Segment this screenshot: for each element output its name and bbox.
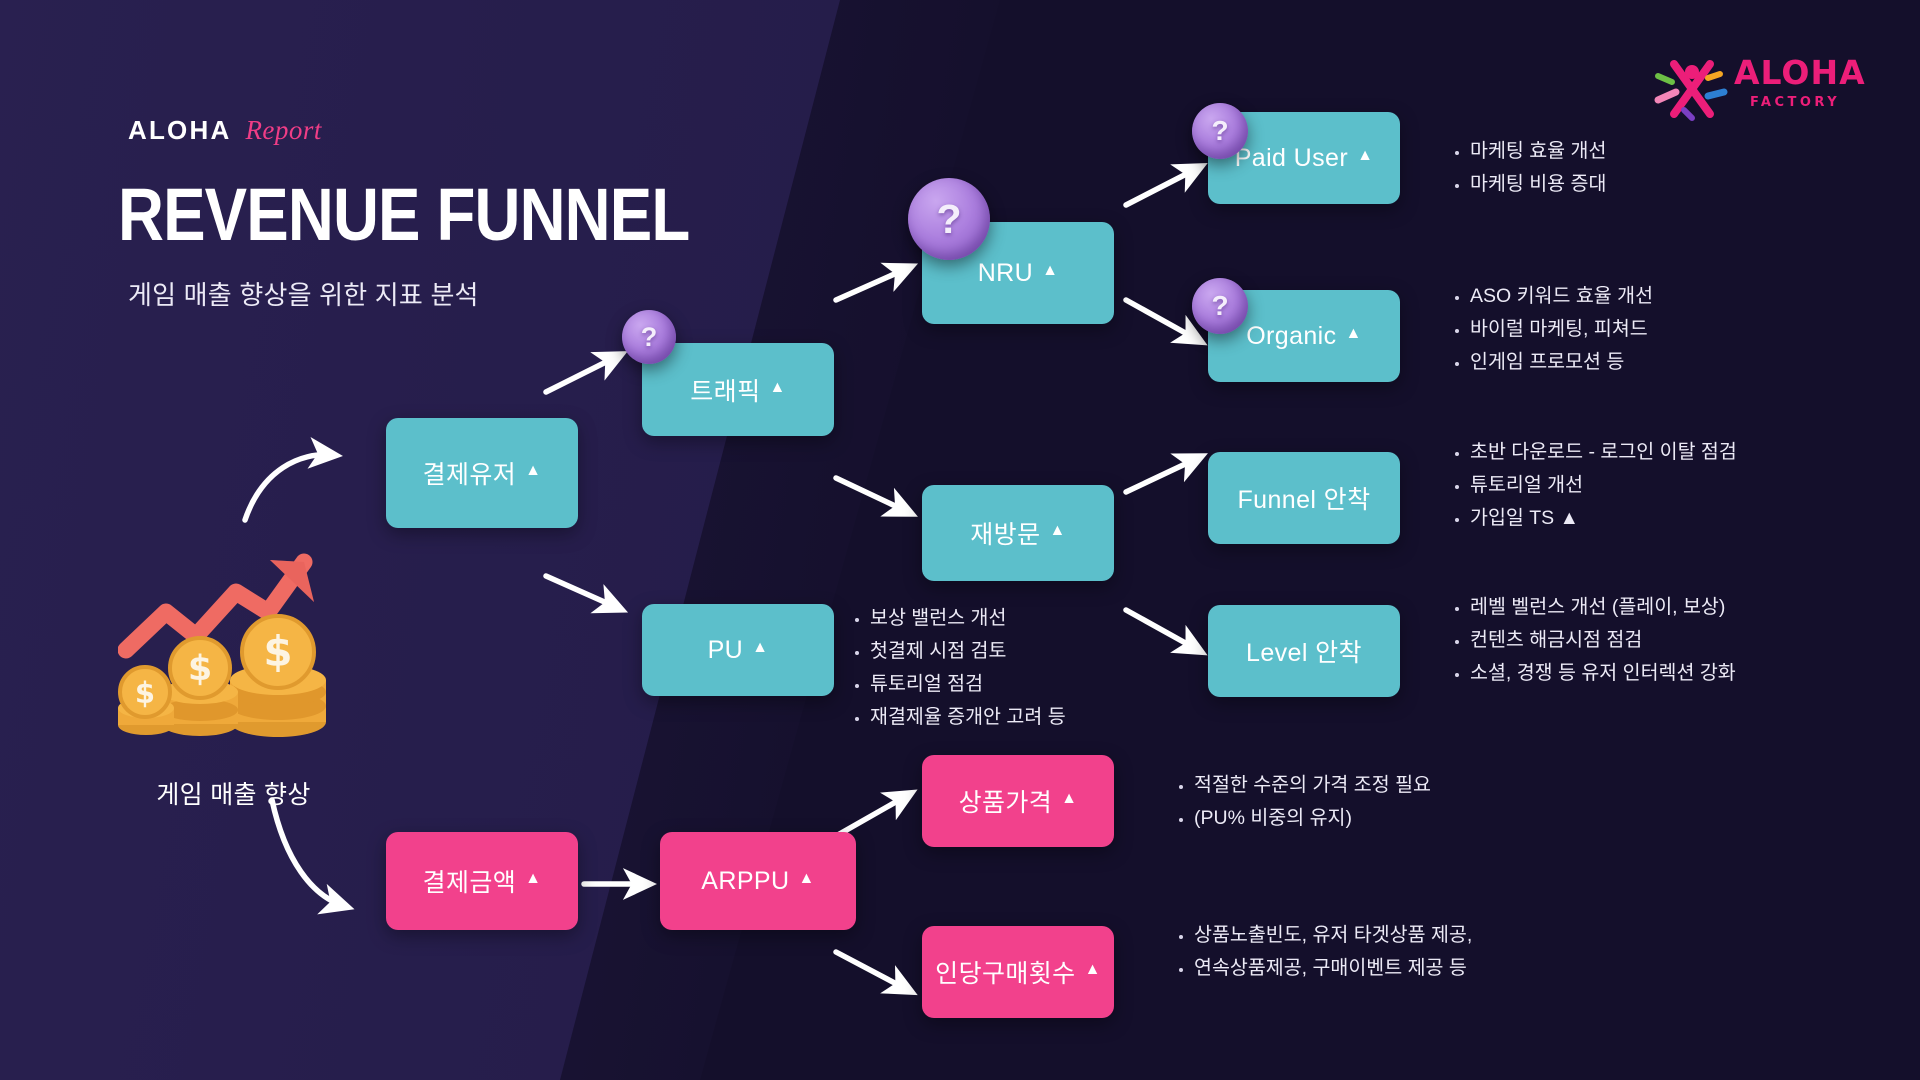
trend-up-icon: ▲ — [752, 639, 768, 657]
notes-paid-user: 마케팅 효율 개선 마케팅 비용 증대 — [1448, 136, 1868, 202]
trend-up-icon: ▲ — [525, 462, 541, 480]
list-item: 튜토리얼 개선 — [1470, 470, 1918, 500]
question-badge-paid-user[interactable]: ? — [1192, 103, 1248, 159]
notes-funnel-settle: 초반 다운로드 - 로그인 이탈 점검 튜토리얼 개선 가입일 TS ▲ — [1448, 437, 1918, 536]
trend-up-icon: ▲ — [1357, 147, 1373, 165]
trend-up-icon: ▲ — [769, 379, 785, 397]
list-item: ASO 키워드 효율 개선 — [1470, 281, 1878, 311]
node-payment-amount[interactable]: 결제금액 ▲ — [386, 832, 578, 930]
coin-stack-large: $ — [230, 616, 326, 737]
node-label: NRU — [978, 259, 1033, 288]
logo-subname: FACTORY — [1750, 96, 1866, 109]
node-traffic[interactable]: 트래픽 ▲ — [642, 343, 834, 436]
trend-up-icon: ▲ — [1042, 262, 1058, 280]
node-purchase-count[interactable]: 인당구매횟수 ▲ — [922, 926, 1114, 1018]
trend-up-icon: ▲ — [1346, 325, 1362, 343]
node-label: 재방문 — [970, 515, 1040, 551]
list-item: 마케팅 효율 개선 — [1470, 136, 1868, 166]
node-label: Level 안착 — [1246, 633, 1362, 669]
node-label: Funnel 안착 — [1238, 480, 1371, 516]
logo-name: ALOHA — [1734, 56, 1866, 89]
list-item: 상품노출빈도, 유저 타겟상품 제공, — [1194, 920, 1552, 950]
slide-canvas: ALOHA Report REVENUE FUNNEL 게임 매출 향상을 위한… — [0, 0, 1920, 1080]
list-item: 소셜, 경쟁 등 유저 인터렉션 강화 — [1470, 658, 1918, 688]
illustration-caption: 게임 매출 향상 — [126, 775, 341, 811]
coin-stack-small: $ — [118, 667, 174, 735]
node-label: 인당구매횟수 — [935, 954, 1075, 990]
list-item: 보상 밸런스 개선 — [870, 603, 1128, 633]
list-item: 레벨 벨런스 개선 (플레이, 보상) — [1470, 592, 1918, 622]
node-label: 상품가격 — [959, 783, 1053, 819]
revenue-growth-illustration: $ $ $ — [118, 540, 348, 740]
question-badge-organic[interactable]: ? — [1192, 278, 1248, 334]
aloha-factory-logo: ALOHA FACTORY — [1652, 48, 1862, 128]
trend-up-icon: ▲ — [1061, 790, 1077, 808]
question-mark-icon: ? — [1211, 290, 1228, 322]
growth-coins-icon: $ $ $ — [118, 540, 348, 740]
trend-up-icon: ▲ — [1085, 961, 1101, 979]
node-item-price[interactable]: 상품가격 ▲ — [922, 755, 1114, 847]
page-title: REVENUE FUNNEL — [118, 172, 689, 257]
node-label: 결제유저 — [423, 455, 517, 491]
svg-text:$: $ — [263, 627, 292, 676]
question-mark-icon: ? — [936, 196, 961, 243]
list-item: 바이럴 마케팅, 피쳐드 — [1470, 314, 1878, 344]
logo-wordmark: ALOHA FACTORY — [1734, 56, 1866, 109]
list-item: 첫결제 시점 검토 — [870, 636, 1128, 666]
page-subtitle: 게임 매출 향상을 위한 지표 분석 — [128, 275, 479, 312]
node-pu[interactable]: PU ▲ — [642, 604, 834, 696]
svg-text:$: $ — [135, 676, 155, 710]
list-item: (PU% 비중의 유지) — [1194, 803, 1532, 833]
list-item: 인게임 프로모션 등 — [1470, 347, 1878, 377]
list-item: 튜토리얼 점검 — [870, 669, 1128, 699]
notes-purchase-count: 상품노출빈도, 유저 타겟상품 제공, 연속상품제공, 구매이벤트 제공 등 — [1172, 920, 1552, 986]
notes-item-price: 적절한 수준의 가격 조정 필요 (PU% 비중의 유지) — [1172, 770, 1532, 836]
svg-text:$: $ — [188, 649, 212, 689]
list-item: 가입일 TS ▲ — [1470, 503, 1918, 533]
list-item: 마케팅 비용 증대 — [1470, 169, 1868, 199]
node-level-settle[interactable]: Level 안착 — [1208, 605, 1400, 697]
node-funnel-settle[interactable]: Funnel 안착 — [1208, 452, 1400, 544]
brand-report-label: Report — [245, 115, 322, 146]
brand-name: ALOHA — [128, 115, 231, 146]
list-item: 재결제율 증개안 고려 등 — [870, 702, 1128, 732]
question-badge-traffic[interactable]: ? — [622, 310, 676, 364]
node-label: Paid User — [1235, 144, 1348, 173]
node-revisit[interactable]: 재방문 ▲ — [922, 485, 1114, 581]
list-item: 적절한 수준의 가격 조정 필요 — [1194, 770, 1532, 800]
notes-pu: 보상 밸런스 개선 첫결제 시점 검토 튜토리얼 점검 재결제율 증개안 고려 … — [848, 603, 1128, 735]
trend-up-icon: ▲ — [525, 870, 541, 888]
trend-up-icon: ▲ — [1049, 522, 1065, 540]
node-arppu[interactable]: ARPPU ▲ — [660, 832, 856, 930]
node-label: 트래픽 — [690, 372, 760, 408]
trend-up-icon: ▲ — [798, 870, 814, 888]
notes-organic: ASO 키워드 효율 개선 바이럴 마케팅, 피쳐드 인게임 프로모션 등 — [1448, 281, 1878, 380]
node-label: PU — [708, 636, 744, 665]
question-mark-icon: ? — [1211, 115, 1228, 147]
node-label: ARPPU — [701, 867, 789, 896]
node-label: Organic — [1246, 322, 1336, 351]
node-paying-user[interactable]: 결제유저 ▲ — [386, 418, 578, 528]
question-mark-icon: ? — [641, 322, 658, 353]
node-label: 결제금액 — [423, 863, 517, 899]
question-badge-nru[interactable]: ? — [908, 178, 990, 260]
brand-line: ALOHA Report — [128, 115, 322, 146]
list-item: 컨텐츠 해금시점 점검 — [1470, 625, 1918, 655]
list-item: 초반 다운로드 - 로그인 이탈 점검 — [1470, 437, 1918, 467]
notes-level-settle: 레벨 벨런스 개선 (플레이, 보상) 컨텐츠 해금시점 점검 소셜, 경쟁 등… — [1448, 592, 1918, 691]
logo-mark-icon — [1652, 48, 1730, 126]
list-item: 연속상품제공, 구매이벤트 제공 등 — [1194, 953, 1552, 983]
